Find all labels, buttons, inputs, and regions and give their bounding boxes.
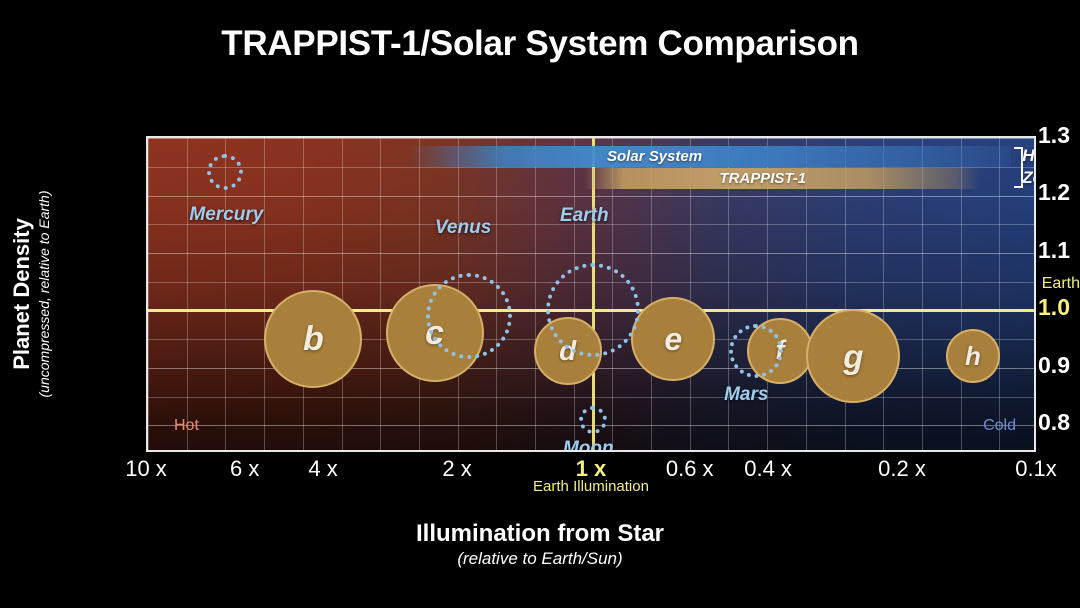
- solar-body-label-mars: Mars: [724, 384, 768, 406]
- y-axis-subtitle: (uncompressed, relative to Earth): [36, 191, 52, 398]
- plot-area: Solar System TRAPPIST-1 Habitable Zones …: [146, 136, 1036, 452]
- planet-label-h: h: [965, 343, 981, 369]
- solar-body-circle-venus[interactable]: [426, 273, 512, 359]
- x-axis-subtitle: (relative to Earth/Sun): [0, 549, 1080, 569]
- habitable-zones-legend-line1: Habitable: [1022, 145, 1036, 166]
- habitable-zone-label-trappist-1: TRAPPIST-1: [719, 168, 806, 189]
- y-axis-label-group: Planet Density (uncompressed, relative t…: [10, 136, 52, 452]
- planet-label-b: b: [303, 322, 324, 356]
- planet-label-g: g: [843, 340, 863, 373]
- habitable-zones-legend-line2: Zones: [1022, 167, 1036, 188]
- chart-root: TRAPPIST-1/Solar System Comparison Plane…: [0, 0, 1080, 608]
- solar-body-circle-earth[interactable]: [546, 263, 640, 357]
- x-axis-title: Illumination from Star: [0, 520, 1080, 548]
- x-tick-4x: 4 x: [263, 456, 383, 482]
- habitable-zone-bar-solar-system: [408, 146, 1011, 167]
- planet-label-e: e: [664, 323, 682, 355]
- x-tick-04x: 0.4 x: [708, 456, 828, 482]
- planet-marker-e[interactable]: e: [631, 297, 715, 381]
- habitable-zone-label-solar-system: Solar System: [607, 146, 702, 167]
- solar-body-label-mercury: Mercury: [189, 204, 263, 226]
- cold-label: Cold: [983, 417, 1016, 435]
- planet-marker-b[interactable]: b: [264, 290, 362, 388]
- x-tick-01x: 0.1x: [976, 456, 1080, 482]
- solar-body-label-venus: Venus: [435, 217, 491, 239]
- solar-body-circle-moon[interactable]: [579, 406, 607, 434]
- x-tick-02x: 0.2 x: [842, 456, 962, 482]
- solar-body-circle-mars[interactable]: [729, 324, 783, 378]
- y-axis-title: Planet Density: [9, 218, 35, 370]
- hot-label: Hot: [174, 417, 199, 435]
- page-title: TRAPPIST-1/Solar System Comparison: [0, 24, 1080, 64]
- planet-marker-g[interactable]: g: [806, 309, 900, 403]
- solar-body-label-earth: Earth: [560, 205, 609, 227]
- solar-body-label-moon: Moon: [563, 438, 614, 452]
- planet-marker-h[interactable]: h: [946, 329, 1000, 383]
